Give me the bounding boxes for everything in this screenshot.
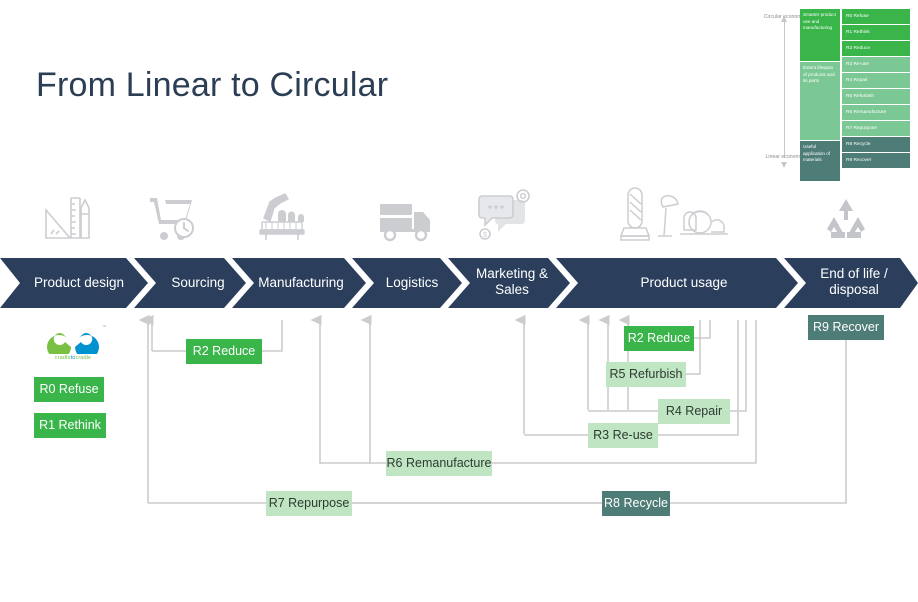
axis-arrow-down-icon bbox=[781, 162, 787, 168]
line-r2-left-out bbox=[262, 320, 282, 351]
c2c-word-cradle-1: cradle bbox=[55, 355, 71, 361]
svg-text:$: $ bbox=[483, 232, 487, 239]
legend-item-r5: R5 Refurbish bbox=[842, 89, 910, 104]
lifecycle-icon-row: $ bbox=[0, 182, 918, 256]
chat-bubbles-icon: $ bbox=[476, 188, 532, 244]
strategy-box-r3-reuse[interactable]: R3 Re-use bbox=[588, 423, 658, 448]
legend-axis bbox=[784, 14, 786, 166]
strategy-box-r6-remanufacture[interactable]: R6 Remanufacture bbox=[386, 451, 492, 476]
legend-item-r3: R3 Re-use bbox=[842, 57, 910, 72]
strategy-box-r1-rethink[interactable]: R1 Rethink bbox=[34, 413, 106, 438]
legend-item-r9: R9 Recover bbox=[842, 153, 910, 168]
axis-line bbox=[784, 22, 785, 158]
legend-item-r6: R6 Remanufacture bbox=[842, 105, 910, 120]
strategy-box-r4-repair[interactable]: R4 Repair bbox=[658, 399, 730, 424]
legend-item-r2: R2 Reduce bbox=[842, 41, 910, 56]
legend-group-useful-application: Useful application of materials bbox=[800, 141, 840, 181]
strategy-box-r2-reduce-usage[interactable]: R2 Reduce bbox=[624, 326, 694, 351]
svg-text:™: ™ bbox=[102, 324, 106, 329]
legend-item-column: R0 Refuse R1 Rethink R2 Reduce R3 Re-use… bbox=[842, 9, 910, 169]
page-title: From Linear to Circular bbox=[36, 66, 388, 105]
c2c-wordmark: cradletocradle bbox=[40, 355, 106, 361]
strategy-box-r2-reduce-sourcing[interactable]: R2 Reduce bbox=[186, 339, 262, 364]
strategy-box-r9-recover[interactable]: R9 Recover bbox=[808, 315, 884, 340]
shopping-cart-clock-icon bbox=[146, 192, 200, 244]
legend-item-r8: R8 Recycle bbox=[842, 137, 910, 152]
home-appliances-icon bbox=[614, 182, 734, 252]
connector-network bbox=[0, 300, 918, 530]
legend-item-r1: R1 Rethink bbox=[842, 25, 910, 40]
line-r2-right-out bbox=[692, 320, 710, 338]
strategy-box-r5-refurbish[interactable]: R5 Refurbish bbox=[606, 362, 686, 387]
delivery-truck-icon bbox=[378, 198, 436, 242]
drafting-tools-icon bbox=[40, 190, 94, 246]
slide-canvas: From Linear to Circular Circular economy… bbox=[0, 0, 918, 602]
legend-item-r7: R7 Repurpose bbox=[842, 121, 910, 136]
strategy-box-r0-refuse[interactable]: R0 Refuse bbox=[34, 377, 104, 402]
legend-group-column: Smarter product use and manufacturing Ex… bbox=[800, 9, 840, 182]
legend-group-extend-lifespan: Extent lifespan of products and its part… bbox=[800, 62, 840, 140]
circularity-legend: Circular economy Linear economy Smarter … bbox=[762, 4, 914, 182]
strategy-box-r7-repurpose[interactable]: R7 Repurpose bbox=[266, 491, 352, 516]
legend-item-r0: R0 Refuse bbox=[842, 9, 910, 24]
recycle-symbol-icon bbox=[822, 196, 870, 242]
c2c-mark-icon: ™ bbox=[40, 322, 106, 354]
legend-item-r4: R4 Repair bbox=[842, 73, 910, 88]
c2c-word-cradle-2: cradle bbox=[75, 355, 91, 361]
strategy-box-r8-recycle[interactable]: R8 Recycle bbox=[602, 491, 670, 516]
factory-robot-icon bbox=[254, 188, 312, 246]
legend-group-smarter-use: Smarter product use and manufacturing bbox=[800, 9, 840, 61]
cradle-to-cradle-logo: ™ cradletocradle bbox=[40, 322, 106, 366]
